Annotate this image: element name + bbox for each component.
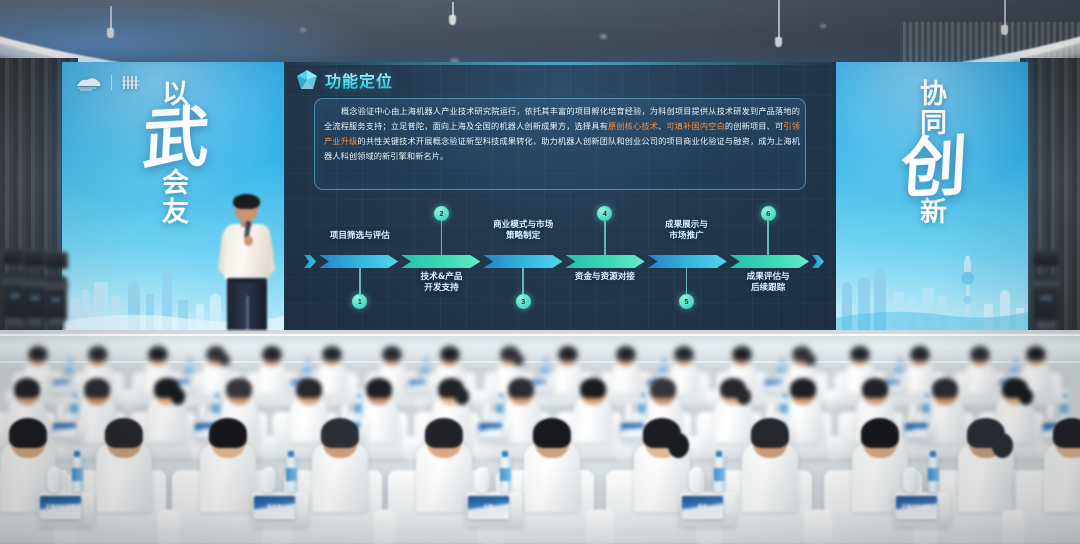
crystal-diamond-icon: [296, 69, 318, 91]
audience-hair: [382, 346, 401, 361]
audience-member: [1044, 418, 1080, 525]
tea-cup: [689, 471, 704, 493]
water-bottle: [71, 397, 78, 420]
audience-member: [742, 418, 798, 525]
audience-hair: [226, 378, 252, 398]
presentation-slide: 功能定位 概念验证中心由上海机器人产业技术研究院运行，依托其丰富的项目孵化培育经…: [284, 62, 836, 330]
water-bottle: [66, 361, 73, 378]
slide-header: 功能定位: [296, 68, 393, 92]
pendant-wire: [778, 0, 780, 38]
audience-hair: [862, 378, 888, 398]
audience-hair: [732, 346, 751, 361]
placard-text: 无锡市科技局: [53, 427, 76, 432]
water-bottle: [781, 397, 788, 420]
audience-hair-bun: [513, 354, 524, 366]
audience-member: [200, 418, 256, 525]
water-bottle: [714, 456, 725, 492]
water-bottle: [500, 456, 511, 492]
audience-hair: [850, 346, 869, 361]
pendant-wire: [110, 6, 112, 30]
audience-hair: [84, 378, 110, 398]
name-placard: 代表: [765, 380, 782, 391]
audience-hair: [14, 378, 40, 398]
tea-cup: [261, 471, 276, 493]
flow-arrow-row: [304, 254, 824, 269]
tea-cup: [475, 471, 490, 493]
banner-right-char-1: 协: [920, 81, 948, 108]
tea-cup: [903, 471, 918, 493]
flow-step-label: 项目筛选与评估: [306, 231, 414, 242]
flow-end-arrow: [812, 255, 824, 268]
water-bottle: [286, 456, 297, 492]
flow-step-badge[interactable]: 6: [761, 206, 776, 221]
audience-hair: [148, 346, 167, 361]
right-shanghai-skyline-graphic: [836, 252, 1028, 330]
name-placard: 无锡市科技局: [896, 496, 936, 518]
audience-hair: [322, 346, 341, 361]
placard-text: 嘉宾: [479, 427, 502, 432]
placard-text: 无锡市科技局: [53, 383, 70, 388]
audience-member: [416, 418, 472, 525]
audience-member: [148, 378, 186, 450]
tea-cup: [47, 471, 62, 493]
audience-hair: [28, 346, 47, 361]
audience-hair: [1026, 346, 1045, 361]
audience-hair: [209, 418, 247, 448]
audience-hair: [674, 346, 693, 361]
water-bottle: [660, 361, 667, 378]
audience-hair: [910, 346, 929, 361]
conference-hall-photo: 以 武 会 友: [0, 0, 1080, 544]
right-banner-calligraphy: 协 同 创 新: [836, 80, 1028, 227]
placard-text: 无锡市科技局: [40, 503, 80, 510]
audience-member: [958, 418, 1014, 525]
audience-hair: [296, 378, 322, 398]
audience-hair: [650, 378, 676, 398]
audience-hair: [88, 346, 107, 361]
name-placard: 嘉宾: [409, 380, 426, 391]
screen-right-panel: 协 同 创 新: [836, 62, 1028, 330]
audience-hair: [9, 418, 47, 448]
banner-right-char-big: 创: [899, 132, 969, 201]
audience-hair: [558, 346, 577, 361]
water-bottle: [923, 397, 930, 420]
speaker-figure: [218, 196, 276, 330]
flow-step-badge[interactable]: 1: [352, 294, 367, 309]
flow-step-label: 商业模式与市场 策略制定: [469, 220, 577, 242]
audience-hair-bun: [219, 354, 230, 366]
audience-hair: [861, 418, 899, 448]
audience-hair: [1053, 418, 1080, 448]
water-bottle: [72, 456, 83, 492]
flow-step-stem: [359, 268, 361, 295]
name-placard: 代表: [905, 423, 928, 438]
water-bottle: [928, 456, 939, 492]
slide-text-run: 的共性关键技术开展概念验证新型科技成果转化，助力机器人创新团队和创业公司的项目商…: [324, 136, 800, 161]
audience-hair: [580, 378, 606, 398]
audience-member: [258, 346, 286, 399]
flow-step-arrow[interactable]: [648, 255, 727, 268]
audience-hair: [425, 418, 463, 448]
name-placard: 嘉宾: [682, 496, 722, 518]
pendant-wire: [452, 2, 454, 16]
flow-step-label: 资金与资源对接: [551, 272, 659, 283]
audience-member: [524, 418, 580, 525]
water-bottle: [778, 361, 785, 378]
audience-hair: [262, 346, 281, 361]
slide-title: 功能定位: [325, 68, 393, 92]
flow-step-badge[interactable]: 2: [434, 206, 449, 221]
placard-text: 嘉宾: [409, 383, 426, 388]
flow-step-badge[interactable]: 5: [679, 294, 694, 309]
water-bottle: [497, 397, 504, 420]
water-bottle: [1012, 361, 1019, 378]
audience-member: [312, 418, 368, 525]
pendant-lamp: [1001, 25, 1008, 35]
placard-text: 代表: [765, 383, 782, 388]
water-bottle: [422, 361, 429, 378]
audience-hair: [970, 346, 989, 361]
flow-step-arrow[interactable]: [483, 255, 562, 268]
name-placard: 代表: [468, 496, 508, 518]
flow-step-label: 技术&产品 开发支持: [388, 272, 496, 294]
water-bottle: [213, 397, 220, 420]
audience-member: [612, 346, 640, 399]
flow-step-arrow[interactable]: [730, 255, 809, 268]
audience-hair: [932, 378, 958, 398]
audience-hair: [321, 418, 359, 448]
audience-hair: [508, 378, 534, 398]
flow-step-badge[interactable]: 4: [597, 206, 612, 221]
banner-left-char-4: 友: [162, 199, 190, 226]
audience-hair: [616, 346, 635, 361]
name-placard: 南京市: [254, 496, 294, 518]
process-flow-diagram: 项目筛选与评估1技术&产品 开发支持2商业模式与市场 策略制定3资金与资源对接4…: [304, 202, 824, 322]
water-bottle: [896, 361, 903, 378]
flow-step-stem: [767, 221, 769, 255]
slide-text-highlight: 原创核心技术: [608, 121, 658, 131]
service-robot-kiosk[interactable]: [1032, 250, 1060, 336]
water-bottle: [304, 361, 311, 378]
placard-text: 嘉宾: [682, 503, 722, 510]
flow-step-arrow[interactable]: [319, 255, 398, 268]
audience-hair: [105, 418, 143, 448]
slide-text-run: 的创新项目、可: [725, 121, 783, 131]
placard-text: 无锡市科技局: [896, 503, 936, 510]
name-placard: 嘉宾: [479, 423, 502, 438]
flow-step-stem: [686, 268, 688, 295]
led-video-wall: 以 武 会 友: [62, 62, 1028, 330]
flow-step-arrow[interactable]: [401, 255, 480, 268]
banner-left-char-big: 武: [141, 103, 211, 172]
placard-text: 南京市: [254, 503, 294, 510]
audience-hair: [790, 378, 816, 398]
water-bottle: [186, 361, 193, 378]
pendant-lamp: [775, 37, 782, 47]
water-bottle: [355, 397, 362, 420]
service-robot-kiosk[interactable]: [44, 252, 68, 332]
flow-step-arrow[interactable]: [566, 255, 645, 268]
flow-step-badge[interactable]: 3: [516, 294, 531, 309]
flow-start-arrow: [304, 255, 316, 268]
placard-text: 代表: [905, 427, 928, 432]
pendant-lamp: [107, 28, 114, 38]
water-bottle: [1061, 397, 1068, 420]
placard-text: 代表: [468, 503, 508, 510]
audience-hair: [366, 378, 392, 398]
audience-member: [966, 346, 994, 399]
slide-text-highlight: 可填补国内空白: [666, 121, 724, 131]
water-bottle: [639, 397, 646, 420]
water-bottle: [542, 361, 549, 378]
slide-paragraph: 概念验证中心由上海机器人产业技术研究院运行，依托其丰富的项目孵化培育经验，为科创…: [324, 104, 800, 164]
audience-member: [96, 418, 152, 525]
name-placard: 无锡市科技局: [53, 423, 76, 438]
flow-step-stem: [441, 221, 443, 255]
flow-step-stem: [604, 221, 606, 255]
audience-hair-bun: [805, 354, 816, 366]
name-placard: 无锡市科技局: [40, 496, 80, 518]
audience-hair: [751, 418, 789, 448]
pendant-wire: [1004, 0, 1006, 26]
audience-hair: [533, 418, 571, 448]
audience-hair: [440, 346, 459, 361]
pendant-lamp: [449, 15, 456, 25]
flow-step-label: 成果展示与 市场推广: [633, 220, 741, 242]
flow-step-stem: [522, 268, 524, 295]
name-placard: 无锡市科技局: [53, 380, 70, 391]
flow-step-label: 成果评估与 后续跟踪: [714, 272, 822, 294]
